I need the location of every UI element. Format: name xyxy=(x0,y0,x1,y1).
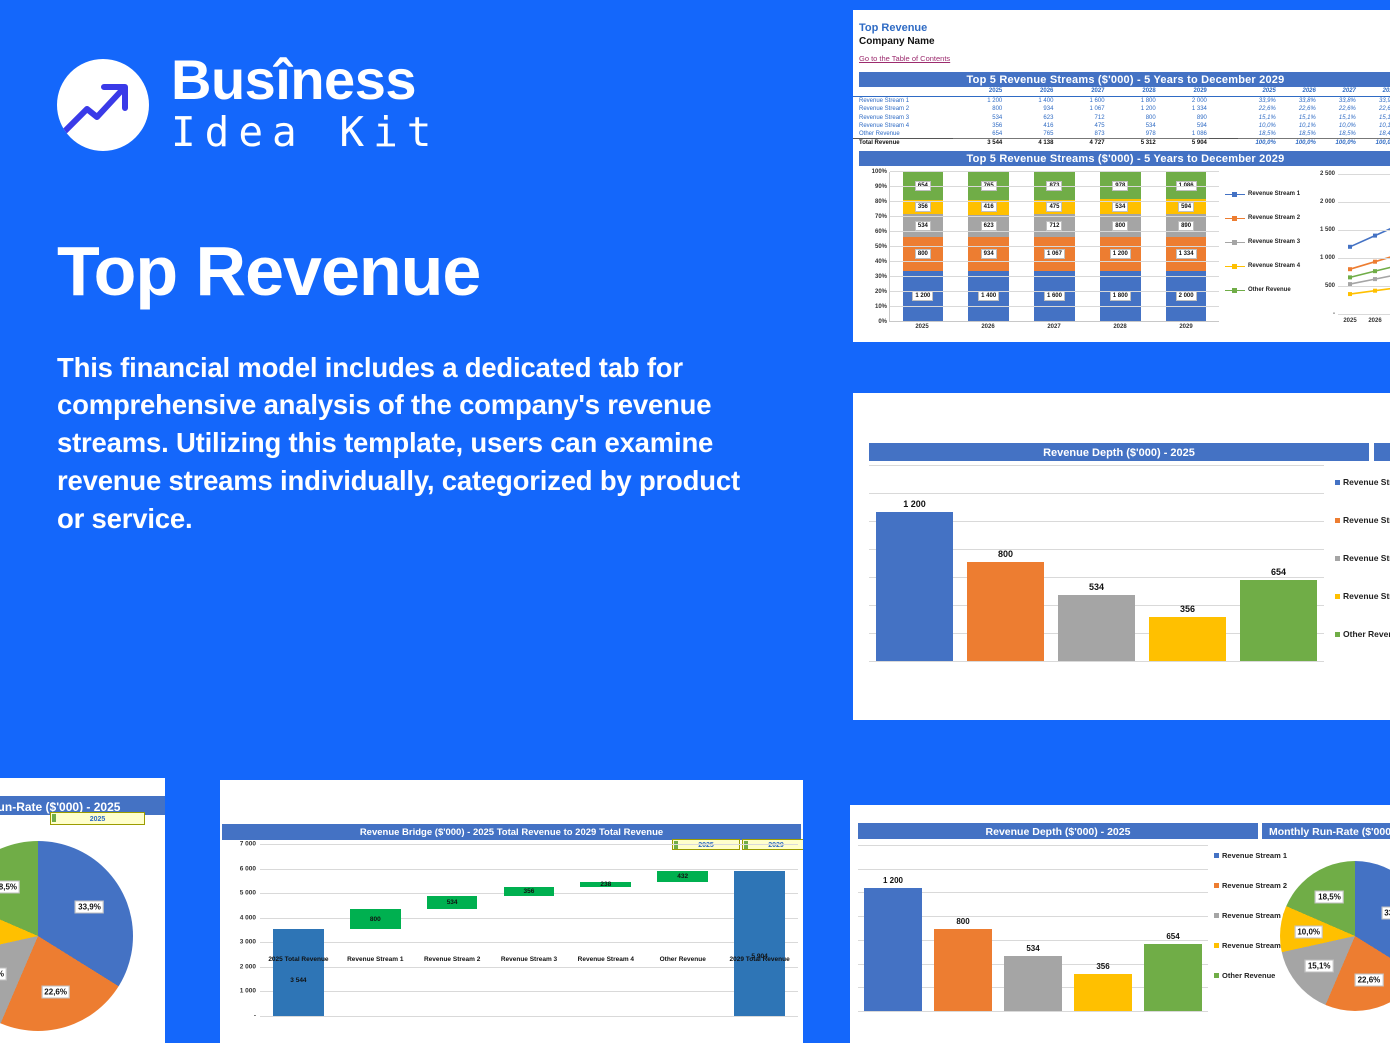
legend-item: Revenue Stream 3 xyxy=(1335,553,1390,563)
line-chart: -5001 0001 5002 0002 500 202520262027202… xyxy=(1305,168,1390,342)
revenue-depth-bottom-plot: 1 200800534356654 xyxy=(858,845,1208,1011)
x-tick-label: 2026 xyxy=(1368,318,1381,324)
legend-marker xyxy=(1335,480,1340,485)
bar-column: 1 200 xyxy=(858,845,928,1011)
legend-marker xyxy=(1335,556,1340,561)
gridline xyxy=(890,231,1219,232)
bar-value-label: 800 xyxy=(370,916,381,923)
legend-label: Revenue Stream 1 xyxy=(1343,477,1390,487)
stacked-chart-y-axis: 0%10%20%30%40%50%60%70%80%90%100% xyxy=(859,172,889,322)
sheet-band-title-2: Top 5 Revenue Streams ($'000) - 5 Years … xyxy=(859,151,1390,166)
gridline xyxy=(260,844,798,845)
bar-segment: 1 200 xyxy=(1100,237,1141,271)
gridline xyxy=(260,942,798,943)
bar-column: 356 xyxy=(1068,845,1138,1011)
x-tick-label: 2027 xyxy=(1021,324,1087,330)
pie-value-label: 22,6% xyxy=(41,986,70,999)
y-tick-label: 7 000 xyxy=(240,841,256,848)
pie-value-label: 15,1% xyxy=(1305,959,1334,972)
legend-marker xyxy=(1335,632,1340,637)
gridline xyxy=(890,216,1219,217)
legend-marker xyxy=(1335,594,1340,599)
gridline xyxy=(260,1016,798,1017)
legend-label: Revenue Stream 4 xyxy=(1343,591,1390,601)
bar xyxy=(1074,974,1133,1011)
pie-slices xyxy=(0,841,133,1031)
legend-label: Revenue Stream 4 xyxy=(1222,941,1287,950)
gridline xyxy=(890,171,1219,172)
bar-segment: 1 600 xyxy=(1034,271,1075,321)
gridline xyxy=(1338,314,1390,315)
page-description: This financial model includes a dedicate… xyxy=(57,349,767,539)
revenue-depth-title-band-filler xyxy=(1374,443,1390,461)
y-tick-label: 70% xyxy=(875,214,887,220)
y-tick-label: - xyxy=(1305,311,1335,317)
bar-value-label: 1 067 xyxy=(1044,249,1065,259)
bar-value-label: 3 544 xyxy=(290,977,306,984)
sheet-title: Top Revenue xyxy=(859,22,1390,35)
y-tick-label: 30% xyxy=(875,274,887,280)
waterfall-total-bar: 5 904 xyxy=(734,871,785,1016)
bar-value-label: 1 400 xyxy=(978,291,999,301)
bar-value-label: 416 xyxy=(981,202,997,212)
y-tick-label: 40% xyxy=(875,259,887,265)
gridline xyxy=(260,869,798,870)
bar xyxy=(967,562,1043,661)
bar-value-label: 1 600 xyxy=(1044,291,1065,301)
waterfall-delta-bar: 356 xyxy=(504,887,555,896)
x-tick-label: 2025 Total Revenue xyxy=(260,956,337,963)
bar xyxy=(934,929,993,1011)
bar-value-label: 934 xyxy=(981,249,997,259)
monthly-run-rate-pie-bottom: 33,9%22,6%15,1%10,0%18,5% xyxy=(1280,861,1390,1011)
line-chart-plot xyxy=(1338,174,1390,314)
revenue-streams-table: 202520262027202820292025202620272028Reve… xyxy=(853,87,1390,147)
gridline xyxy=(1338,202,1390,203)
y-tick-label: 60% xyxy=(875,229,887,235)
bar xyxy=(1144,944,1203,1011)
bottom-right-panel: Revenue Depth ($'000) - 2025 Monthly Run… xyxy=(850,805,1390,1043)
legend-marker xyxy=(1225,238,1245,246)
bar-value-label: 534 xyxy=(1026,944,1039,953)
legend-label: Revenue Stream 3 xyxy=(1248,239,1300,245)
legend-marker xyxy=(1214,853,1219,858)
bar-segment: 800 xyxy=(903,237,944,271)
gridline xyxy=(260,991,798,992)
y-tick-label: 2 000 xyxy=(1305,199,1335,205)
legend-label: Revenue Stream 1 xyxy=(1248,191,1300,197)
legend-label: Revenue Stream 3 xyxy=(1343,553,1390,563)
bar-segment: 1 200 xyxy=(903,271,944,321)
bar-value-label: 1 200 xyxy=(1110,249,1131,259)
bar-value-label: 534 xyxy=(915,221,931,231)
x-tick-label: 2025 xyxy=(1343,318,1356,324)
bar-value-label: 534 xyxy=(1112,202,1128,212)
bar-column: 800 xyxy=(960,465,1051,661)
bar-segment: 890 xyxy=(1166,214,1207,236)
bar-value-label: 475 xyxy=(1046,202,1062,212)
legend-item: Revenue Stream 1 xyxy=(1335,477,1390,487)
monthly-run-rate-pie-left: 33,9%22,6%15,1%10,0%18,5% xyxy=(0,841,133,1031)
bar-column: 356 xyxy=(1142,465,1233,661)
monthly-run-rate-bottom-title: Monthly Run-Rate ($'000 xyxy=(1262,823,1390,839)
x-tick-label: Revenue Stream 4 xyxy=(567,956,644,963)
bar-segment: 2 000 xyxy=(1166,271,1207,321)
legend-marker xyxy=(1225,262,1245,270)
legend-item: Revenue Stream 4 xyxy=(1214,941,1287,950)
x-tick-label: Revenue Stream 2 xyxy=(414,956,491,963)
legend-marker xyxy=(1225,190,1245,198)
revenue-bridge-panel: Revenue Bridge ($'000) - 2025 Total Reve… xyxy=(220,780,803,1043)
bar-value-label: 1 200 xyxy=(912,291,933,301)
legend-item: Revenue Stream 4 xyxy=(1335,591,1390,601)
gridline xyxy=(890,201,1219,202)
pie-value-label: 15,1% xyxy=(0,967,7,980)
bar-value-label: 534 xyxy=(1089,582,1104,592)
table-row-total: Total Revenue3 5444 1384 7275 3125 90410… xyxy=(853,139,1390,148)
bar xyxy=(1058,595,1134,661)
stacked-bar-chart: 0%10%20%30%40%50%60%70%80%90%100% 654356… xyxy=(859,172,1219,342)
y-tick-label: 4 000 xyxy=(240,914,256,921)
pie-value-label: 10,0% xyxy=(1294,925,1323,938)
revenue-depth-title: Revenue Depth ($'000) - 2025 xyxy=(869,443,1369,461)
gridline xyxy=(890,291,1219,292)
sheet-band-title-1: Top 5 Revenue Streams ($'000) - 5 Years … xyxy=(859,72,1390,87)
bar-value-label: 890 xyxy=(1178,221,1194,231)
y-tick-label: 5 000 xyxy=(240,890,256,897)
legend-item: Other Revenue xyxy=(1214,971,1287,980)
bar-segment: 1 800 xyxy=(1100,271,1141,321)
y-tick-label: 90% xyxy=(875,184,887,190)
gridline xyxy=(890,276,1219,277)
y-tick-label: 2 500 xyxy=(1305,171,1335,177)
bar-segment: 1 067 xyxy=(1034,237,1075,271)
waterfall-delta-bar: 534 xyxy=(427,896,478,909)
legend-item: Revenue Stream 3 xyxy=(1214,911,1287,920)
legend-label: Other Revenue xyxy=(1343,629,1390,639)
bar-value-label: 356 xyxy=(915,202,931,212)
bar-value-label: 356 xyxy=(524,888,535,895)
bar-column: 654 xyxy=(1233,465,1324,661)
gridline xyxy=(869,661,1324,662)
gridline xyxy=(260,918,798,919)
revenue-bridge-x-axis: 2025 Total RevenueRevenue Stream 1Revenu… xyxy=(260,956,798,963)
y-tick-label: 100% xyxy=(872,169,887,175)
x-tick-label: 2025 xyxy=(889,324,955,330)
y-tick-label: 500 xyxy=(1305,283,1335,289)
bar-value-label: 356 xyxy=(1096,962,1109,971)
gridline xyxy=(1338,230,1390,231)
stacked-chart-legend: Revenue Stream 1Revenue Stream 2Revenue … xyxy=(1225,182,1311,302)
table-row: Other Revenue6547658739781 08618,5%18,5%… xyxy=(853,130,1390,139)
bar-column: 534 xyxy=(998,845,1068,1011)
legend-item: Revenue Stream 1 xyxy=(1225,182,1311,206)
table-row: Revenue Stream 435641647553459410,0%10,1… xyxy=(853,122,1390,130)
y-tick-label: 80% xyxy=(875,199,887,205)
legend-item: Revenue Stream 4 xyxy=(1225,254,1311,278)
legend-marker xyxy=(1214,883,1219,888)
legend-marker xyxy=(1225,214,1245,222)
x-tick-label: Revenue Stream 3 xyxy=(491,956,568,963)
bar-value-label: 712 xyxy=(1046,221,1062,231)
bar-segment: 1 400 xyxy=(968,271,1009,321)
y-tick-label: 20% xyxy=(875,289,887,295)
legend-item: Revenue Stream 3 xyxy=(1225,230,1311,254)
bar-value-label: 623 xyxy=(981,221,997,231)
legend-item: Revenue Stream 2 xyxy=(1225,206,1311,230)
legend-item: Other Revenue xyxy=(1225,278,1311,302)
stacked-chart-plot: 6543565348001 2007654166239341 400873475… xyxy=(889,172,1219,322)
bar-value-label: 654 xyxy=(1271,567,1286,577)
legend-marker xyxy=(1225,286,1245,294)
bar-segment: 623 xyxy=(968,215,1009,237)
x-tick-label: Revenue Stream 1 xyxy=(337,956,414,963)
gridline xyxy=(1338,286,1390,287)
x-tick-label: Other Revenue xyxy=(644,956,721,963)
bar-value-label: 432 xyxy=(677,873,688,880)
bar-value-label: 800 xyxy=(915,249,931,259)
bar-value-label: 238 xyxy=(600,881,611,888)
bar xyxy=(1004,956,1063,1011)
revenue-bridge-title: Revenue Bridge ($'000) - 2025 Total Reve… xyxy=(222,824,801,840)
bar-column: 654 xyxy=(1138,845,1208,1011)
legend-label: Revenue Stream 4 xyxy=(1248,263,1300,269)
legend-label: Revenue Stream 2 xyxy=(1248,215,1300,221)
legend-item: Other Revenue xyxy=(1335,629,1390,639)
y-tick-label: 1 000 xyxy=(240,988,256,995)
slide-canvas: Busîness Idea Kit Top Revenue This finan… xyxy=(0,0,1390,1043)
y-tick-label: 2 000 xyxy=(240,963,256,970)
table-row: Revenue Stream 28009341 0671 2001 33422,… xyxy=(853,105,1390,113)
bar-value-label: 1 800 xyxy=(1110,291,1131,301)
bar-column: 800 xyxy=(928,845,998,1011)
gridline xyxy=(1338,258,1390,259)
legend-item: Revenue Stream 1 xyxy=(1214,851,1287,860)
x-tick-label: 2029 Total Revenue xyxy=(721,956,798,963)
x-tick-label: 2028 xyxy=(1087,324,1153,330)
legend-marker xyxy=(1214,973,1219,978)
waterfall-delta-bar: 800 xyxy=(350,909,401,929)
legend-label: Other Revenue xyxy=(1248,287,1291,293)
legend-label: Revenue Stream 3 xyxy=(1222,911,1287,920)
bar-value-label: 594 xyxy=(1178,202,1194,212)
legend-item: Revenue Stream 2 xyxy=(1335,515,1390,525)
revenue-depth-panel: Revenue Depth ($'000) - 2025 1 200800534… xyxy=(853,393,1390,720)
y-tick-label: 50% xyxy=(875,244,887,250)
y-tick-label: 6 000 xyxy=(240,865,256,872)
legend-label: Revenue Stream 1 xyxy=(1222,851,1287,860)
legend-marker xyxy=(1335,518,1340,523)
bar-value-label: 534 xyxy=(447,899,458,906)
sheet-company-name: Company Name xyxy=(859,35,1390,48)
y-tick-label: 10% xyxy=(875,304,887,310)
bar-segment: 800 xyxy=(1100,214,1141,236)
bar-value-label: 1 200 xyxy=(883,876,903,885)
logo-wordmark-secondary: Idea Kit xyxy=(171,112,440,153)
bar-column: 534 xyxy=(1051,465,1142,661)
legend-label: Revenue Stream 2 xyxy=(1222,881,1287,890)
revenue-bridge-plot: -1 0002 0003 0004 0005 0006 0007 0003 54… xyxy=(260,844,798,1016)
pie-value-label: 18,5% xyxy=(0,880,20,893)
y-tick-label: 3 000 xyxy=(240,939,256,946)
growth-arrow-chart-icon xyxy=(57,59,149,151)
hero-section: Busîness Idea Kit Top Revenue This finan… xyxy=(57,52,817,538)
monthly-run-rate-panel-left: Monthly Run-Rate ($'000) - 2025 2025 33,… xyxy=(0,778,165,1043)
bar-segment: 534 xyxy=(903,214,944,236)
bar xyxy=(876,512,952,661)
revenue-depth-bottom-legend: Revenue Stream 1Revenue Stream 2Revenue … xyxy=(1214,851,1287,1001)
legend-item: Revenue Stream 2 xyxy=(1214,881,1287,890)
pie-value-label: 18,5% xyxy=(1315,891,1344,904)
legend-marker xyxy=(1214,913,1219,918)
x-tick-label: 2029 xyxy=(1153,324,1219,330)
gridline xyxy=(890,306,1219,307)
bar-value-label: 800 xyxy=(956,917,969,926)
y-tick-label: 1 000 xyxy=(1305,255,1335,261)
revenue-depth-bottom-title: Revenue Depth ($'000) - 2025 xyxy=(858,823,1258,839)
x-tick-label: 2026 xyxy=(955,324,1021,330)
waterfall-delta-bar: 238 xyxy=(580,882,631,888)
y-tick-label: 1 500 xyxy=(1305,227,1335,233)
table-row: Revenue Stream 353462371280089015,1%15,1… xyxy=(853,114,1390,122)
legend-label: Revenue Stream 2 xyxy=(1343,515,1390,525)
bar-segment: 1 334 xyxy=(1166,237,1207,271)
bar-segment: 934 xyxy=(968,237,1009,271)
bar-value-label: 1 334 xyxy=(1176,249,1197,259)
y-tick-label: 0% xyxy=(878,319,887,325)
stacked-chart-x-axis: 20252026202720282029 xyxy=(889,324,1219,330)
bar-value-label: 800 xyxy=(1112,221,1128,231)
gridline xyxy=(1338,174,1390,175)
spreadsheet-panel: Top Revenue Company Name Go to the Table… xyxy=(853,10,1390,342)
gridline xyxy=(890,246,1219,247)
waterfall-delta-bar: 432 xyxy=(657,871,708,882)
gridline xyxy=(858,1011,1208,1012)
pie-value-label: 33,9% xyxy=(1381,907,1390,920)
legend-marker xyxy=(1214,943,1219,948)
gridline xyxy=(890,261,1219,262)
table-of-contents-link[interactable]: Go to the Table of Contents xyxy=(859,53,950,65)
bar-value-label: 800 xyxy=(998,549,1013,559)
revenue-depth-legend: Revenue Stream 1Revenue Stream 2Revenue … xyxy=(1335,477,1390,667)
bar-value-label: 356 xyxy=(1180,604,1195,614)
bar-segment: 712 xyxy=(1034,214,1075,237)
table-row: Revenue Stream 11 2001 4001 6001 8002 00… xyxy=(853,97,1390,106)
bar xyxy=(864,888,923,1011)
bar xyxy=(1149,617,1225,661)
bar-value-label: 1 200 xyxy=(903,499,926,509)
gridline xyxy=(260,967,798,968)
pie-value-label: 22,6% xyxy=(1355,974,1384,987)
waterfall-total-bar: 3 544 xyxy=(273,929,324,1016)
revenue-depth-plot: 1 200800534356654 xyxy=(869,465,1324,661)
brand-logo: Busîness Idea Kit xyxy=(57,52,817,157)
bar-column: 1 200 xyxy=(869,465,960,661)
bar-value-label: 654 xyxy=(1166,932,1179,941)
year-selector-2025[interactable]: 2025 xyxy=(50,812,145,825)
page-title: Top Revenue xyxy=(57,235,817,309)
gridline xyxy=(890,186,1219,187)
legend-label: Other Revenue xyxy=(1222,971,1275,980)
y-tick-label: - xyxy=(254,1013,256,1020)
bar-value-label: 2 000 xyxy=(1176,291,1197,301)
bar xyxy=(1240,580,1316,661)
sheet-header: Top Revenue Company Name Go to the Table… xyxy=(853,10,1390,66)
pie-value-label: 33,9% xyxy=(75,901,104,914)
logo-wordmark-primary: Busîness xyxy=(171,52,440,108)
